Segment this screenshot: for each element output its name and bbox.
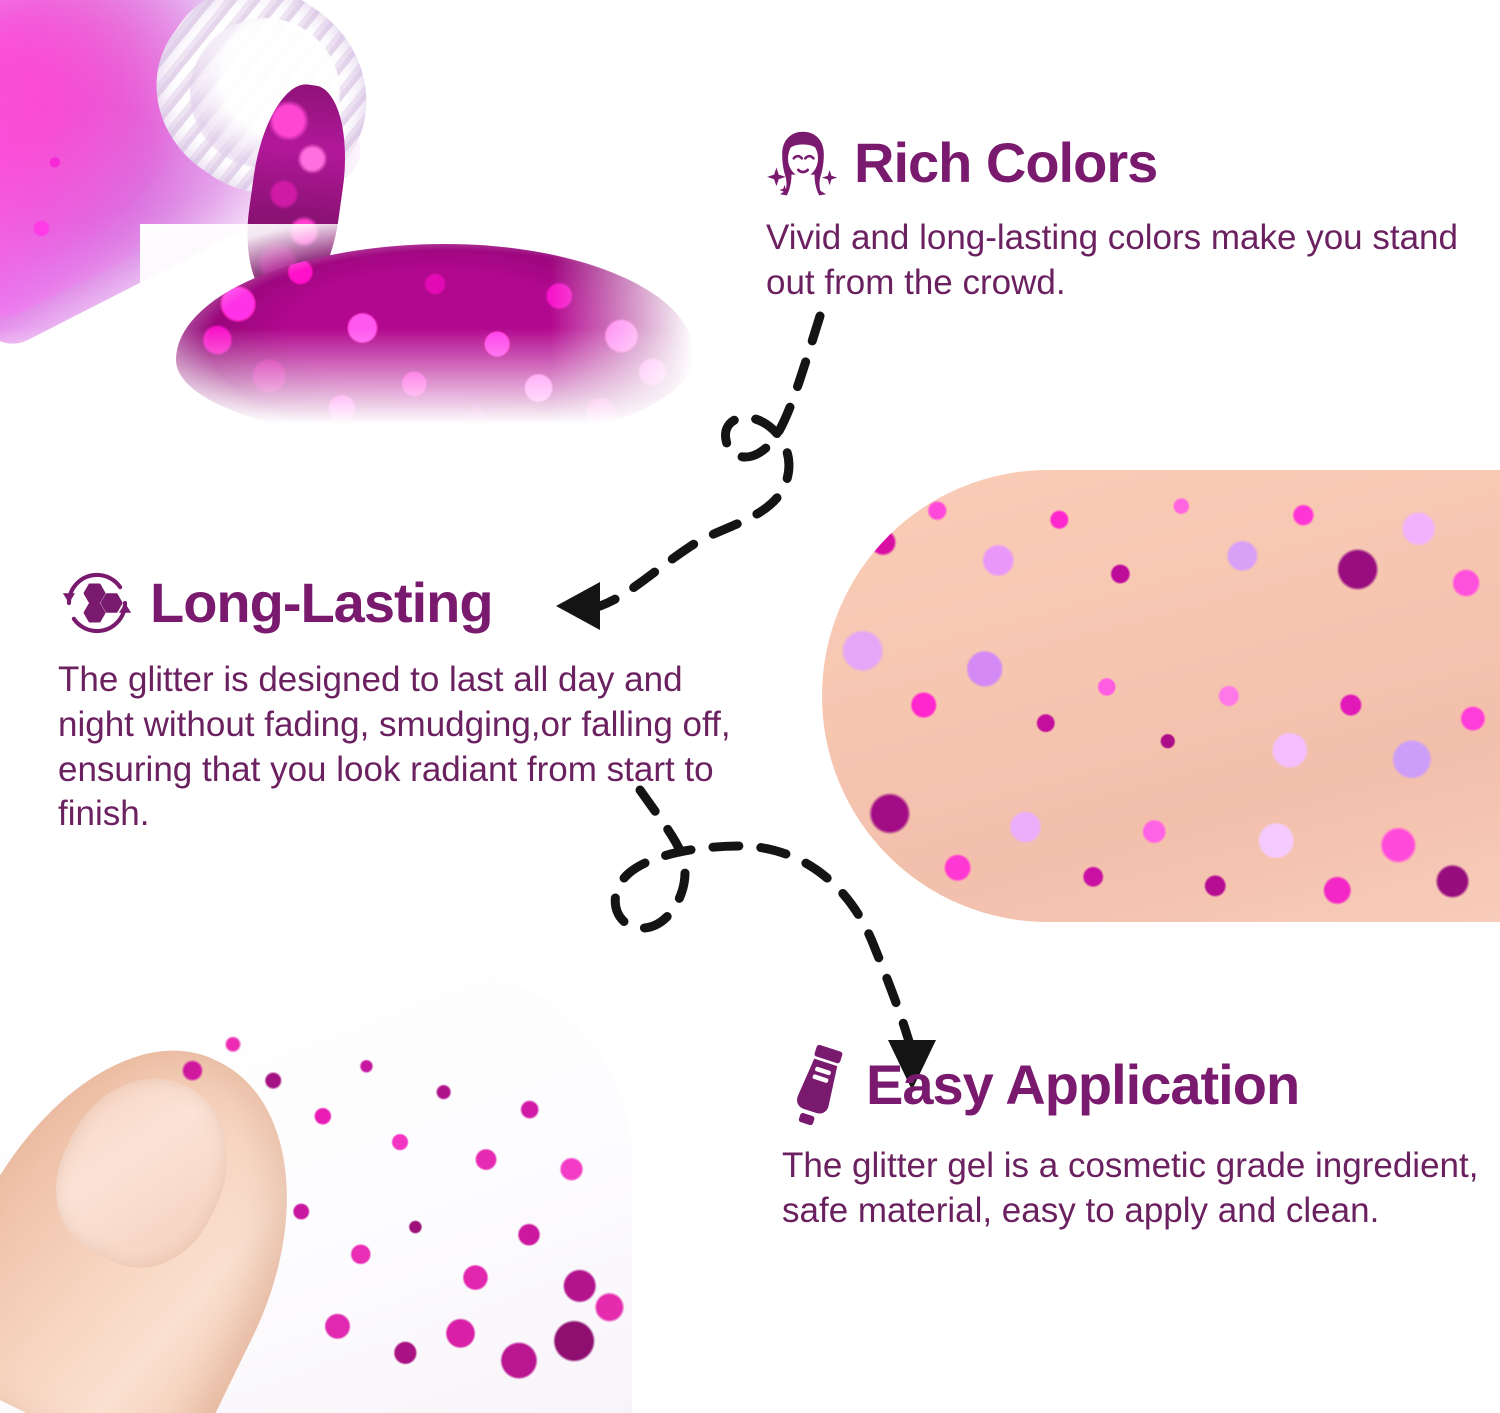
sparkle-left-icon	[767, 168, 786, 187]
feature-long-lasting: Long-Lasting The glitter is designed to …	[58, 564, 758, 837]
feature-title: Easy Application	[866, 1056, 1299, 1113]
photo-fade-bottom	[0, 328, 750, 448]
feature-rich-colors: Rich Colors Vivid and long-lasting color…	[766, 126, 1466, 306]
infographic-page: Rich Colors Vivid and long-lasting color…	[0, 0, 1500, 1413]
feature-title: Rich Colors	[854, 134, 1157, 191]
hexagon-bottom-icon	[85, 604, 105, 621]
hexagon-top-icon	[85, 585, 105, 602]
feature-body-text: The glitter is designed to last all day …	[58, 658, 758, 837]
photo-skin-swatch	[822, 470, 1500, 922]
glitter-smear	[147, 994, 632, 1413]
sparkle-right-icon	[822, 170, 837, 185]
hexagon-right-icon	[102, 594, 122, 611]
loop-arrow-left-icon	[63, 593, 75, 603]
photo-finger-swatch	[0, 970, 632, 1413]
feature-heading-row: Rich Colors	[766, 126, 1466, 200]
feature-title: Long-Lasting	[150, 574, 493, 631]
woman-face-sparkle-icon	[766, 126, 840, 200]
cosmetic-tube-icon	[782, 1042, 852, 1128]
tube-nozzle	[798, 1112, 815, 1126]
feature-body-text: Vivid and long-lasting colors make you s…	[766, 216, 1466, 306]
feature-body-text: The glitter gel is a cosmetic grade ingr…	[782, 1144, 1482, 1234]
feature-heading-row: Easy Application	[782, 1042, 1482, 1128]
tube-body	[795, 1057, 842, 1116]
feature-heading-row: Long-Lasting	[58, 564, 758, 642]
photo-bottle-pour	[0, 0, 750, 448]
feature-easy-application: Easy Application The glitter gel is a co…	[782, 1042, 1482, 1234]
hexagons-refresh-loop-icon	[58, 564, 136, 642]
